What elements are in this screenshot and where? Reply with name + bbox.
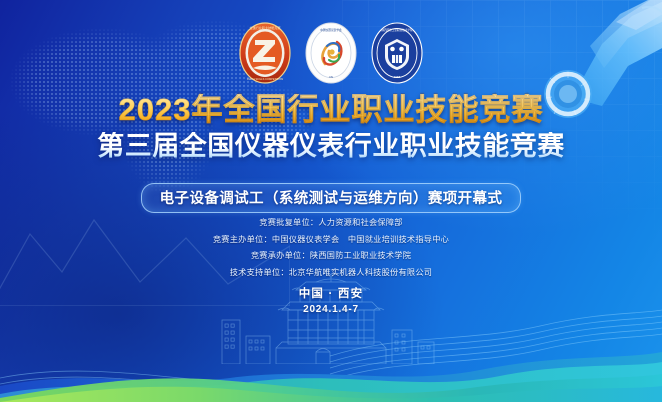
- event-date: 2024.1.4-7: [0, 304, 662, 315]
- svg-text:1958: 1958: [394, 75, 401, 79]
- svg-text:CIS: CIS: [329, 77, 333, 79]
- china-instrument-and-control-society-emblem-icon: 中国仪器仪表学会 CIS: [305, 22, 357, 84]
- national-vocational-skills-competition-emblem-icon: 全国行业职业技能竞赛 CHINA SKILLS COMPETITION: [239, 22, 291, 84]
- organizer-line: 竞赛批复单位：人力资源和社会保障部: [259, 216, 402, 228]
- event-name-badge: 电子设备调试工（系统测试与运维方向）赛项开幕式: [141, 183, 522, 213]
- title-line-2: 第三届全国仪器仪表行业职业技能竞赛: [0, 132, 662, 162]
- poster-title-block: 2023年全国行业职业技能竞赛 第三届全国仪器仪表行业职业技能竞赛: [0, 94, 662, 161]
- organizer-line: 技术支持单位：北京华航唯实机器人科技股份有限公司: [230, 266, 433, 278]
- poster-canvas: 全国行业职业技能竞赛 CHINA SKILLS COMPETITION 中国仪器…: [0, 0, 662, 402]
- title-line-1: 2023年全国行业职业技能竞赛: [0, 94, 662, 127]
- venue-block: 中国 · 西安 2024.1.4-7: [0, 285, 662, 315]
- organizer-line: 竞赛主办单位：中国仪器仪表学会 中国就业培训技术指导中心: [213, 233, 449, 245]
- svg-text:CHINA SKILLS COMPETITION: CHINA SKILLS COMPETITION: [247, 77, 283, 81]
- shaanxi-defence-industry-polytechnic-emblem-icon: 陕西国防工业职业技术学院 1958: [371, 22, 423, 84]
- svg-text:全国行业职业技能竞赛: 全国行业职业技能竞赛: [250, 25, 281, 30]
- venue-location: 中国 · 西安: [0, 285, 662, 301]
- svg-text:中国仪器仪表学会: 中国仪器仪表学会: [320, 28, 342, 32]
- event-pill-container: 电子设备调试工（系统测试与运维方向）赛项开幕式: [0, 183, 662, 213]
- organizer-logo-row: 全国行业职业技能竞赛 CHINA SKILLS COMPETITION 中国仪器…: [0, 22, 662, 84]
- organizer-line: 竞赛承办单位：陕西国防工业职业技术学院: [251, 249, 411, 261]
- organizer-list: 竞赛批复单位：人力资源和社会保障部 竞赛主办单位：中国仪器仪表学会 中国就业培训…: [0, 216, 662, 278]
- svg-text:陕西国防工业职业技术学院: 陕西国防工业职业技术学院: [381, 28, 413, 32]
